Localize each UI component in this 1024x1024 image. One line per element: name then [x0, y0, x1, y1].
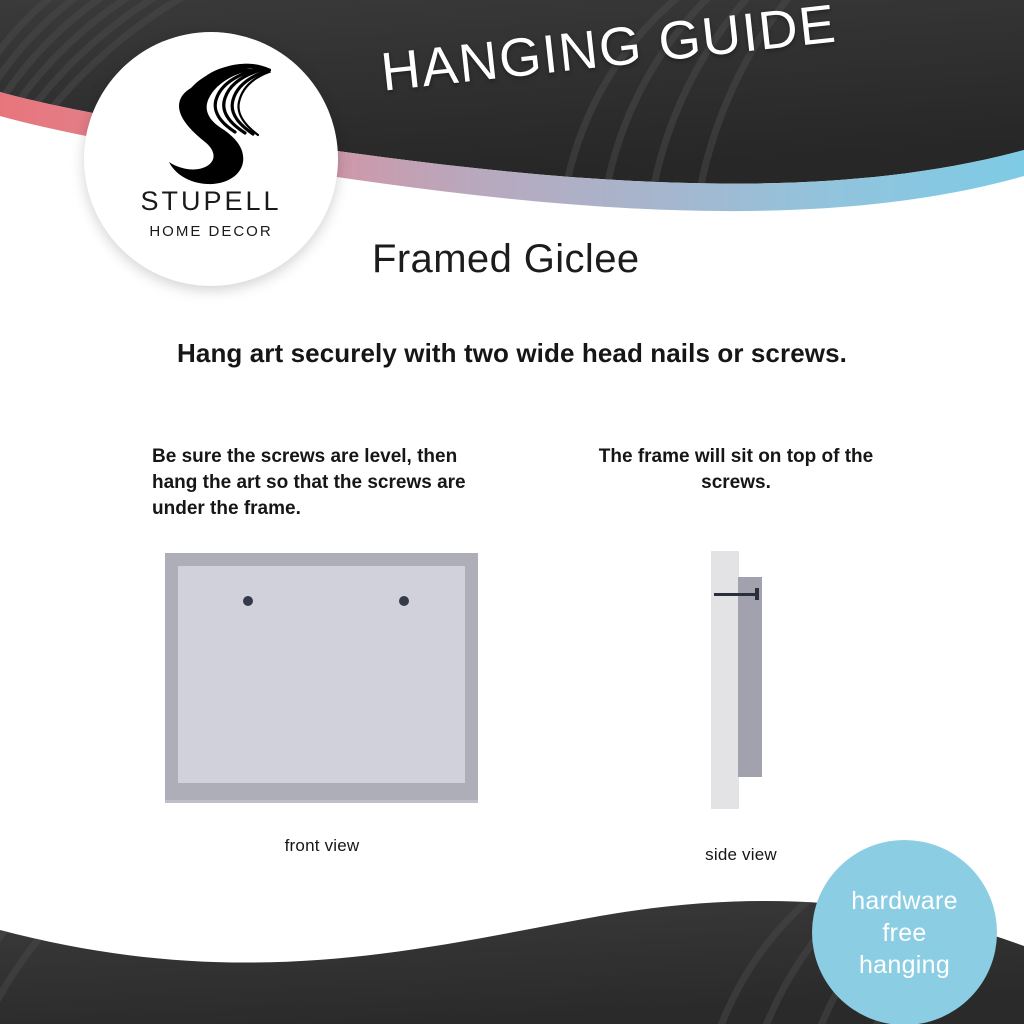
product-type-label: Framed Giclee — [372, 237, 640, 282]
nail-head — [755, 588, 759, 600]
main-instruction-text: Hang art securely with two wide head nai… — [0, 338, 1024, 369]
hardware-free-badge: hardware free hanging — [812, 840, 997, 1024]
badge-line-2: free — [882, 917, 926, 949]
side-view-panel: The frame will sit on top of the screws. — [590, 444, 882, 496]
nail-shaft — [714, 593, 758, 596]
hanging-guide-page: STUPELL HOME DECOR HANGING GUIDE Framed … — [0, 0, 1024, 1024]
side-view-frame — [738, 577, 762, 777]
front-view-label: front view — [205, 836, 439, 856]
page-title: HANGING GUIDE — [378, 0, 840, 104]
front-view-diagram — [165, 553, 478, 803]
side-view-caption: The frame will sit on top of the screws. — [590, 444, 882, 496]
front-view-artwork-area — [178, 566, 465, 783]
front-view-panel: Be sure the screws are level, then hang … — [152, 444, 492, 522]
screw-dot-left-icon — [243, 596, 253, 606]
side-view-label: side view — [655, 845, 827, 865]
badge-line-1: hardware — [851, 885, 958, 917]
front-view-caption: Be sure the screws are level, then hang … — [152, 444, 492, 522]
brand-name: STUPELL — [140, 188, 281, 215]
side-view-diagram — [705, 548, 777, 810]
badge-line-3: hanging — [859, 949, 950, 981]
stupell-swoosh-icon — [151, 54, 271, 186]
screw-dot-right-icon — [399, 596, 409, 606]
brand-logo-badge: STUPELL HOME DECOR — [84, 32, 338, 286]
nail-icon — [714, 592, 760, 596]
side-view-wall — [711, 551, 739, 809]
brand-tagline: HOME DECOR — [149, 224, 272, 239]
